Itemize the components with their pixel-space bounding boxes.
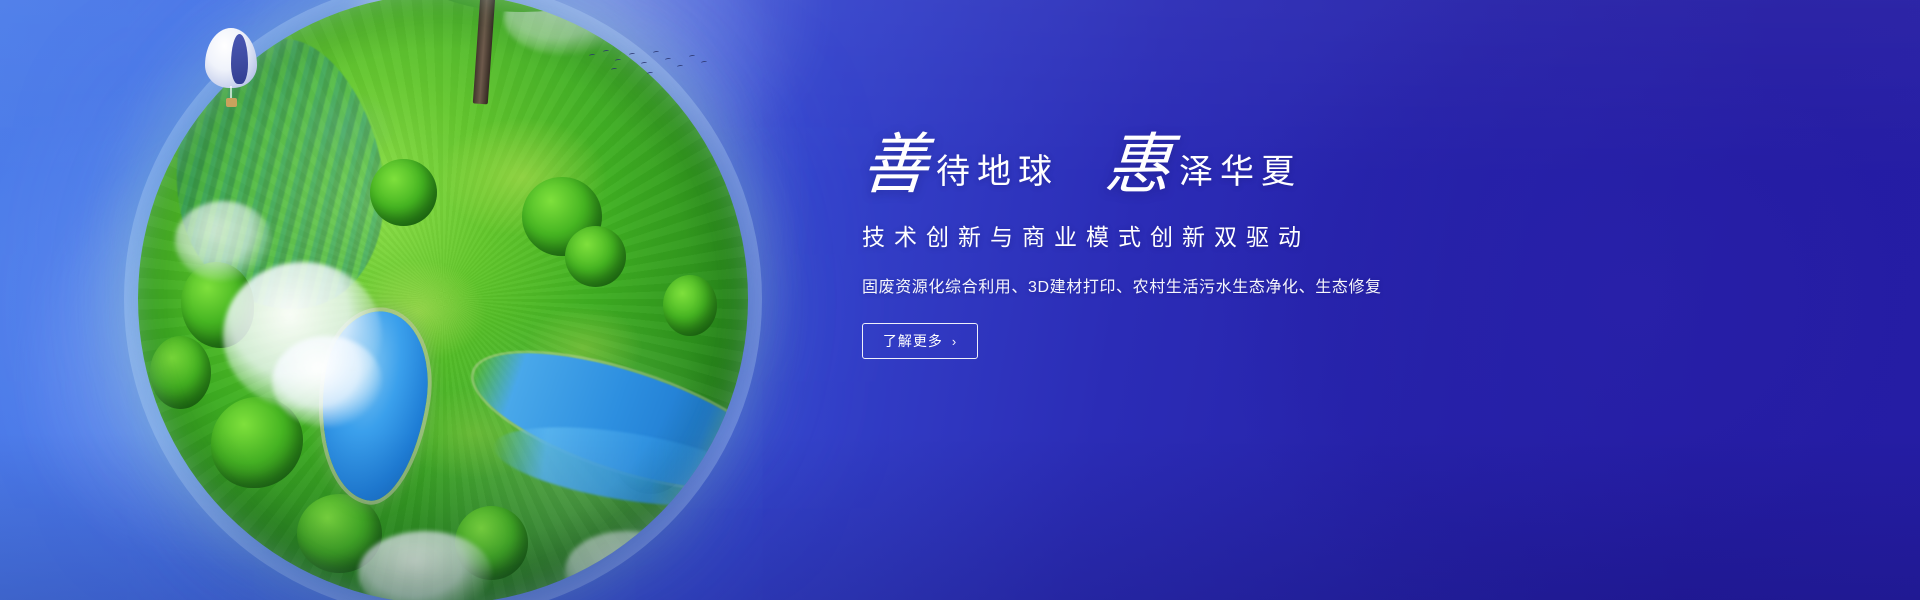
hero-banner: 善 待地球 惠 泽华夏 技术创新与商业模式创新双驱动 固废资源化综合利用、3D建… bbox=[0, 0, 1920, 600]
vignette-overlay bbox=[0, 0, 1920, 600]
